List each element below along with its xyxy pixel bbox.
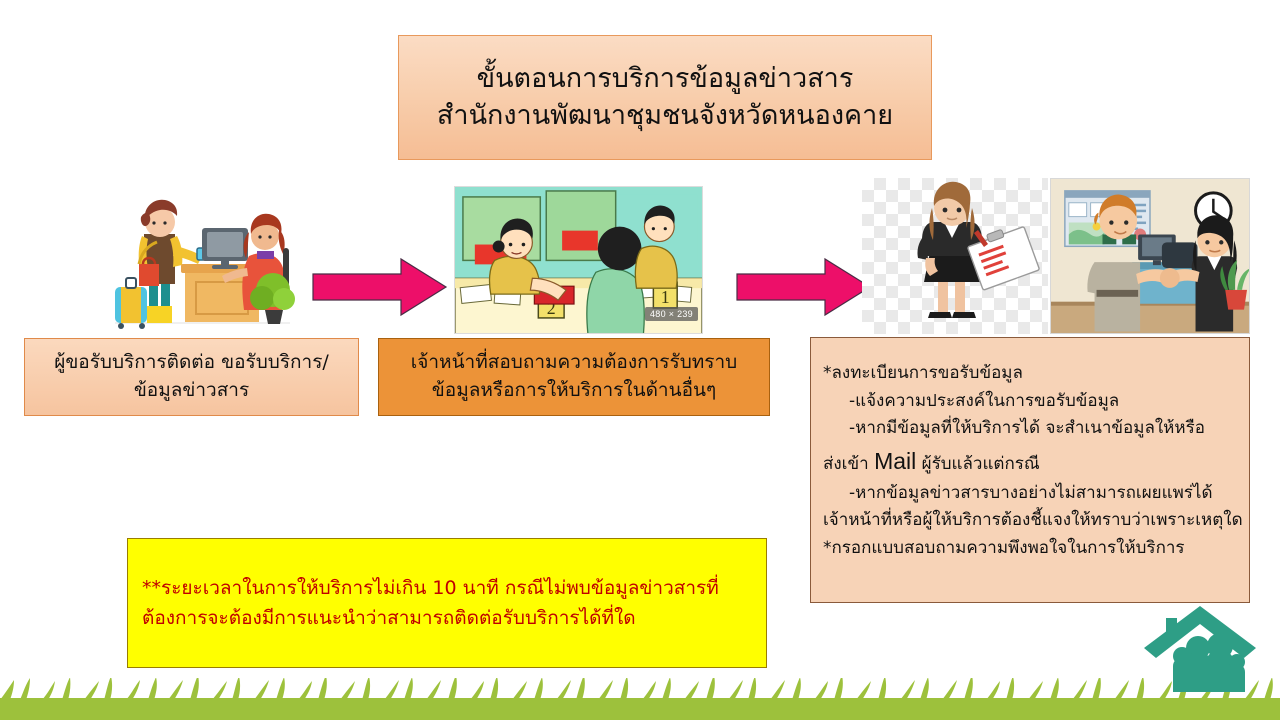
step-2-caption-line-2: ข้อมูลหรือการให้บริการในด้านอื่นๆ [432,377,716,405]
note-line-2: ต้องการจะต้องมีการแนะนำว่าสามารถติดต่อรั… [142,603,752,633]
detail-mail-suffix: ผู้รับแล้วแต่กรณี [916,454,1039,474]
image-watermark-label: 480 × 239 [645,307,698,321]
step-2-image: 2 1 480 × 239 [454,186,703,334]
detail-mail-word: Mail [874,448,916,474]
step-1-caption-line-1: ผู้ขอรับบริการติดต่อ ขอรับบริการ/ [54,349,329,377]
step-1-caption-box: ผู้ขอรับบริการติดต่อ ขอรับบริการ/ ข้อมูล… [24,338,359,416]
office-handshake-illustration [1051,179,1249,333]
detail-image-right [1050,178,1250,334]
detail-line-1: *ลงทะเบียนการขอรับข้อมูล [823,360,1239,388]
step-3-detail-box: *ลงทะเบียนการขอรับข้อมูล -แจ้งความประสงค… [810,337,1250,603]
detail-image-left [862,178,1048,334]
step-1-image [97,186,306,334]
reception-desk-illustration [97,186,306,334]
detail-line-2: -แจ้งความประสงค์ในการขอรับข้อมูล [823,388,1239,416]
step-2-caption-line-1: เจ้าหน้าที่สอบถามความต้องการรับทราบ [411,349,737,377]
step-2-caption-box: เจ้าหน้าที่สอบถามความต้องการรับทราบ ข้อม… [378,338,770,416]
arrow-right-icon [311,256,448,318]
detail-line-5: เจ้าหน้าที่หรือผู้ให้บริการต้องชี้แจงให้… [823,507,1239,535]
grass-decoration [0,678,1280,720]
detail-line-4: -หากข้อมูลข่าวสารบางอย่างไม่สามารถเผยแพร… [823,480,1239,508]
flow-arrow-2 [735,256,872,322]
woman-with-clipboard-illustration [862,178,1048,334]
step-1-caption-line-2: ข้อมูลข่าวสาร [134,377,249,405]
title-line-1: ขั้นตอนการบริการข้อมูลข่าวสาร [477,61,854,97]
detail-line-mail: ส่งเข้า Mail ผู้รับแล้วแต่กรณี [823,443,1239,480]
note-line-1: **ระยะเวลาในการให้บริการไม่เกิน 10 นาที … [142,573,752,603]
arrow-right-icon [735,256,872,318]
slide-title-box: ขั้นตอนการบริการข้อมูลข่าวสาร สำนักงานพั… [398,35,932,160]
service-time-note-box: **ระยะเวลาในการให้บริการไม่เกิน 10 นาที … [127,538,767,668]
title-line-2: สำนักงานพัฒนาชุมชนจังหวัดหนองคาย [437,98,893,134]
slide-canvas: ขั้นตอนการบริการข้อมูลข่าวสาร สำนักงานพั… [0,0,1280,720]
detail-mail-prefix: ส่งเข้า [823,454,874,474]
detail-line-3: -หากมีข้อมูลที่ให้บริการได้ จะสำเนาข้อมู… [823,415,1239,443]
flow-arrow-1 [311,256,448,322]
detail-line-6: *กรอกแบบสอบถามความพึงพอใจในการให้บริการ [823,535,1239,563]
svg-text:1: 1 [661,287,670,307]
community-development-logo [1140,600,1260,700]
